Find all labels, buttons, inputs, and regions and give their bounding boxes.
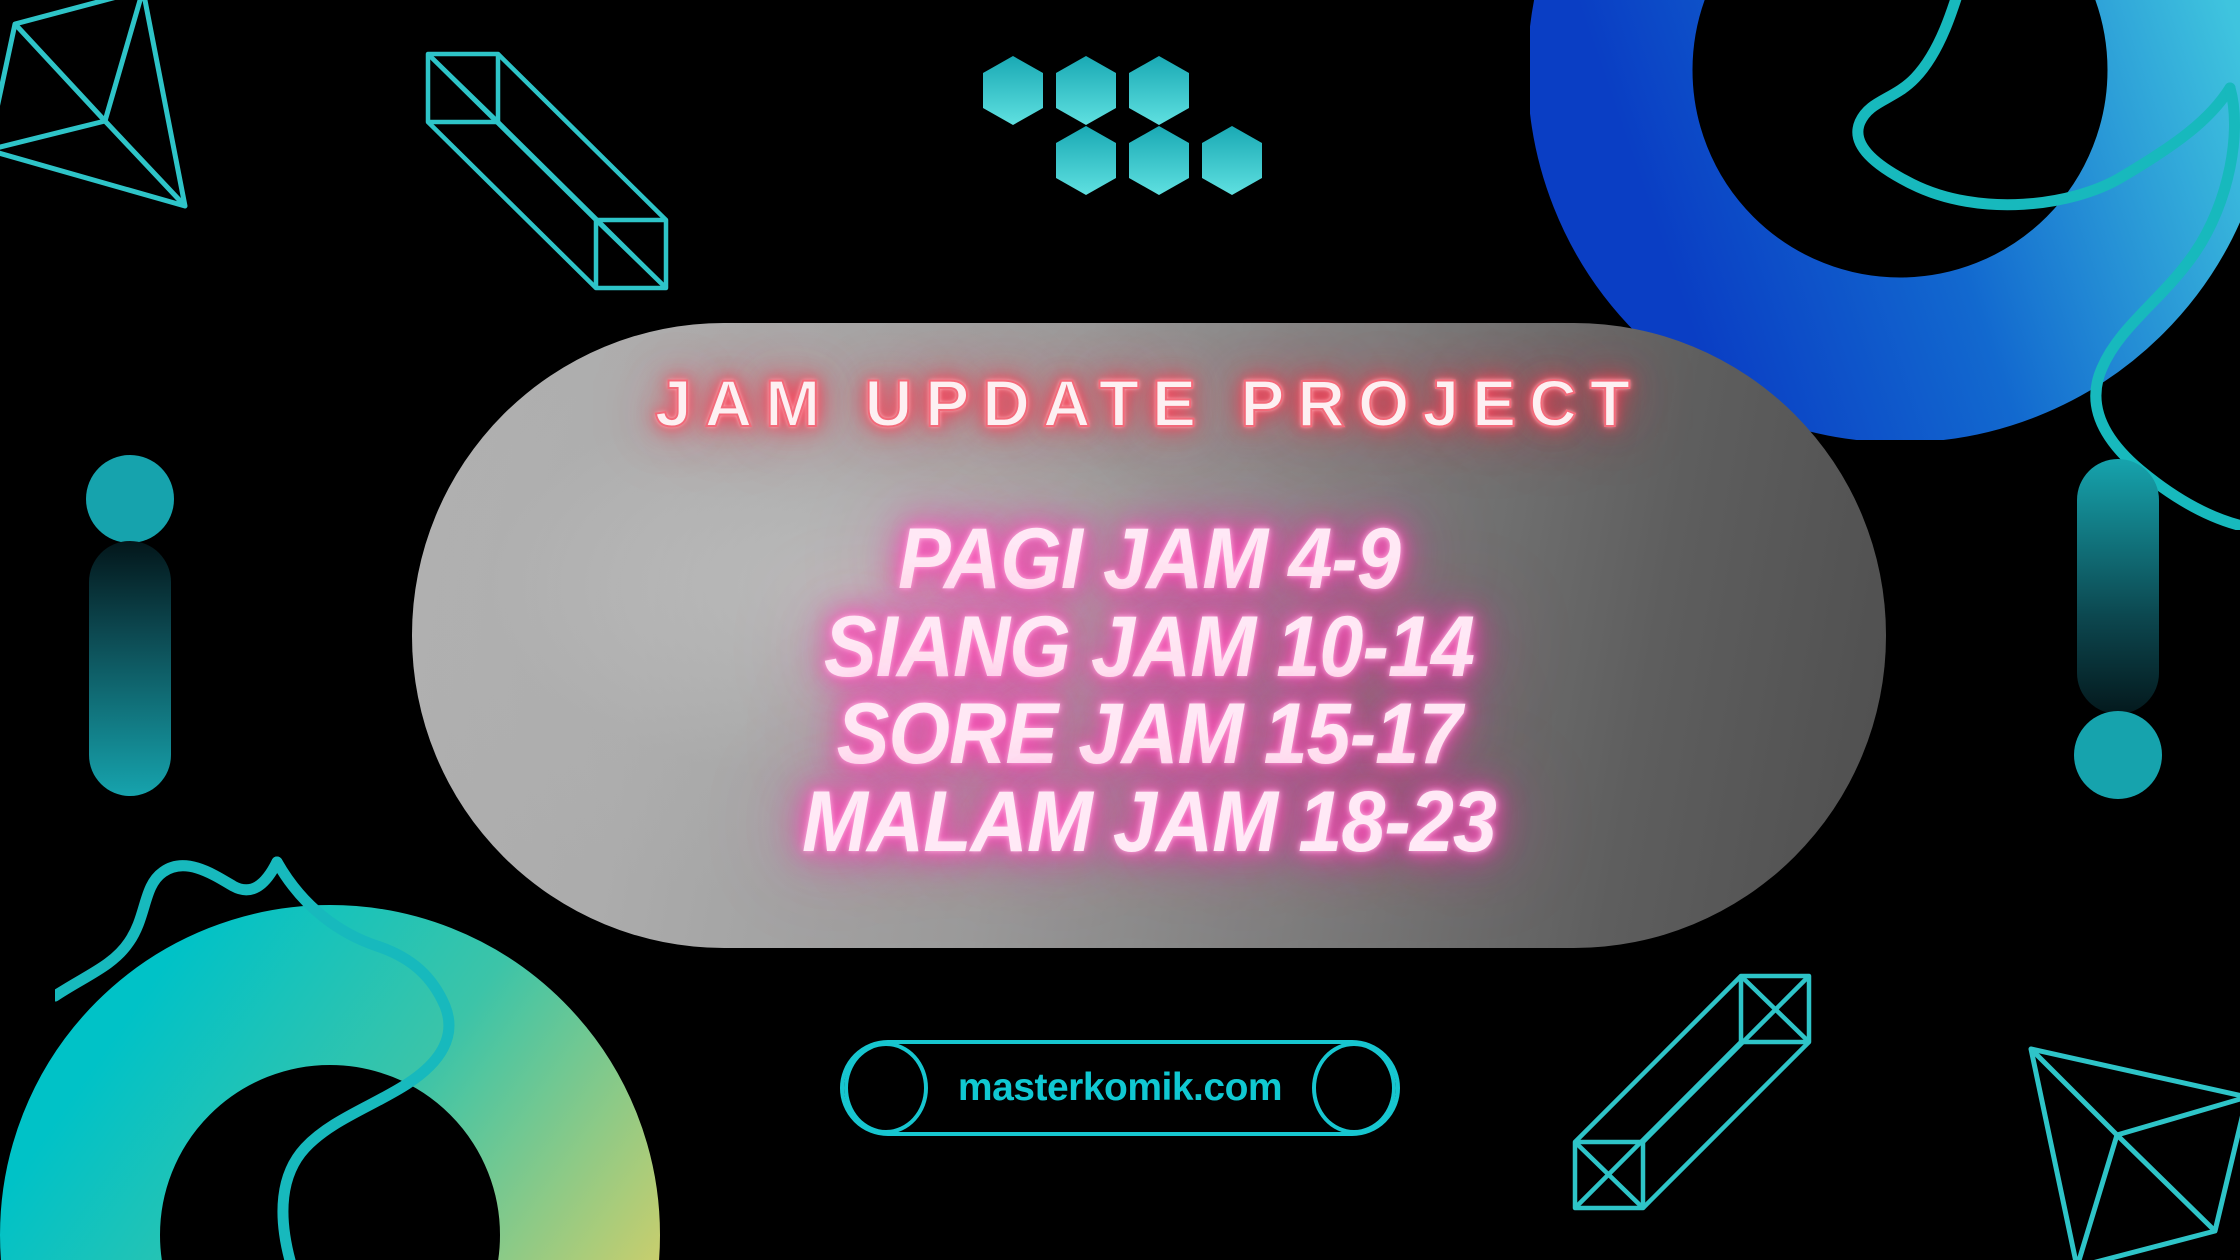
- squiggle-top-right-icon: [1790, 0, 2240, 530]
- wireframe-tetrahedron-top-left-icon: [0, 0, 220, 218]
- poster-canvas: JAM UPDATE PROJECT PAGI JAM 4-9 SIANG JA…: [0, 0, 2240, 1260]
- website-badge[interactable]: masterkomik.com: [840, 1040, 1400, 1136]
- wireframe-tetrahedron-bottom-right-icon: [2025, 1035, 2240, 1260]
- schedule-line-sore: SORE JAM 15-17: [471, 694, 1827, 776]
- page-title: JAM UPDATE PROJECT: [412, 365, 1886, 441]
- schedule-list: PAGI JAM 4-9 SIANG JAM 10-14 SORE JAM 15…: [412, 519, 1886, 870]
- schedule-line-malam: MALAM JAM 18-23: [471, 782, 1827, 864]
- main-panel: JAM UPDATE PROJECT PAGI JAM 4-9 SIANG JA…: [412, 323, 1886, 948]
- hexagon-cluster-icon: [968, 48, 1278, 223]
- exclamation-right-icon: [2073, 455, 2163, 800]
- wireframe-beam-bottom-right-icon: [1565, 950, 1855, 1220]
- website-url-text: masterkomik.com: [840, 1040, 1400, 1136]
- squiggle-bottom-left-icon: [55, 848, 515, 1260]
- exclamation-left-icon: [85, 455, 175, 800]
- schedule-line-pagi: PAGI JAM 4-9: [471, 519, 1827, 601]
- wireframe-beam-top-left-icon: [410, 48, 690, 303]
- schedule-line-siang: SIANG JAM 10-14: [471, 607, 1827, 689]
